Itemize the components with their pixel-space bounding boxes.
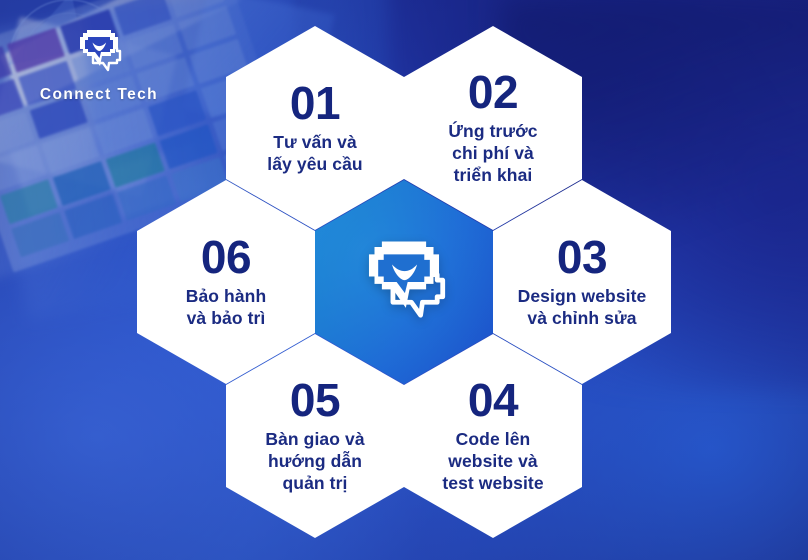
step-caption-line: lấy yêu cầu (267, 153, 362, 175)
step-caption-line: và bảo trì (186, 307, 267, 329)
step-caption-line: Design website (518, 285, 647, 307)
step-caption: Ứng trước chi phí và triển khai (448, 120, 537, 186)
step-caption-line: chi phí và (448, 142, 537, 164)
infographic-canvas: Connect Tech 01 Tư vấn và lấy yêu cầu 02… (0, 0, 808, 560)
step-caption: Tư vấn và lấy yêu cầu (267, 131, 362, 175)
step-caption-line: triển khai (448, 164, 537, 186)
step-number: 02 (468, 70, 518, 115)
step-caption-line: test website (442, 472, 543, 494)
chat-bubble-smile-icon (345, 230, 463, 334)
step-number: 04 (468, 378, 518, 423)
chat-bubble-smile-icon (67, 24, 131, 80)
step-caption-line: quản trị (265, 472, 364, 494)
step-caption-line: Ứng trước (448, 120, 537, 142)
step-caption-line: Code lên (442, 428, 543, 450)
brand-name: Connect Tech (40, 86, 158, 104)
step-caption-line: và chỉnh sửa (518, 307, 647, 329)
step-number: 05 (290, 378, 340, 423)
step-caption-line: Tư vấn và (267, 131, 362, 153)
step-caption-line: website và (442, 450, 543, 472)
step-caption: Bàn giao và hướng dẫn quản trị (265, 428, 364, 494)
step-number: 01 (290, 81, 340, 126)
step-caption: Design website và chỉnh sửa (518, 285, 647, 329)
step-caption: Bảo hành và bảo trì (186, 285, 267, 329)
step-caption-line: hướng dẫn (265, 450, 364, 472)
step-number: 06 (201, 235, 251, 280)
step-caption-line: Bàn giao và (265, 428, 364, 450)
step-caption-line: Bảo hành (186, 285, 267, 307)
step-number: 03 (557, 235, 607, 280)
step-caption: Code lên website và test website (442, 428, 543, 494)
brand-logo: Connect Tech (24, 24, 174, 104)
